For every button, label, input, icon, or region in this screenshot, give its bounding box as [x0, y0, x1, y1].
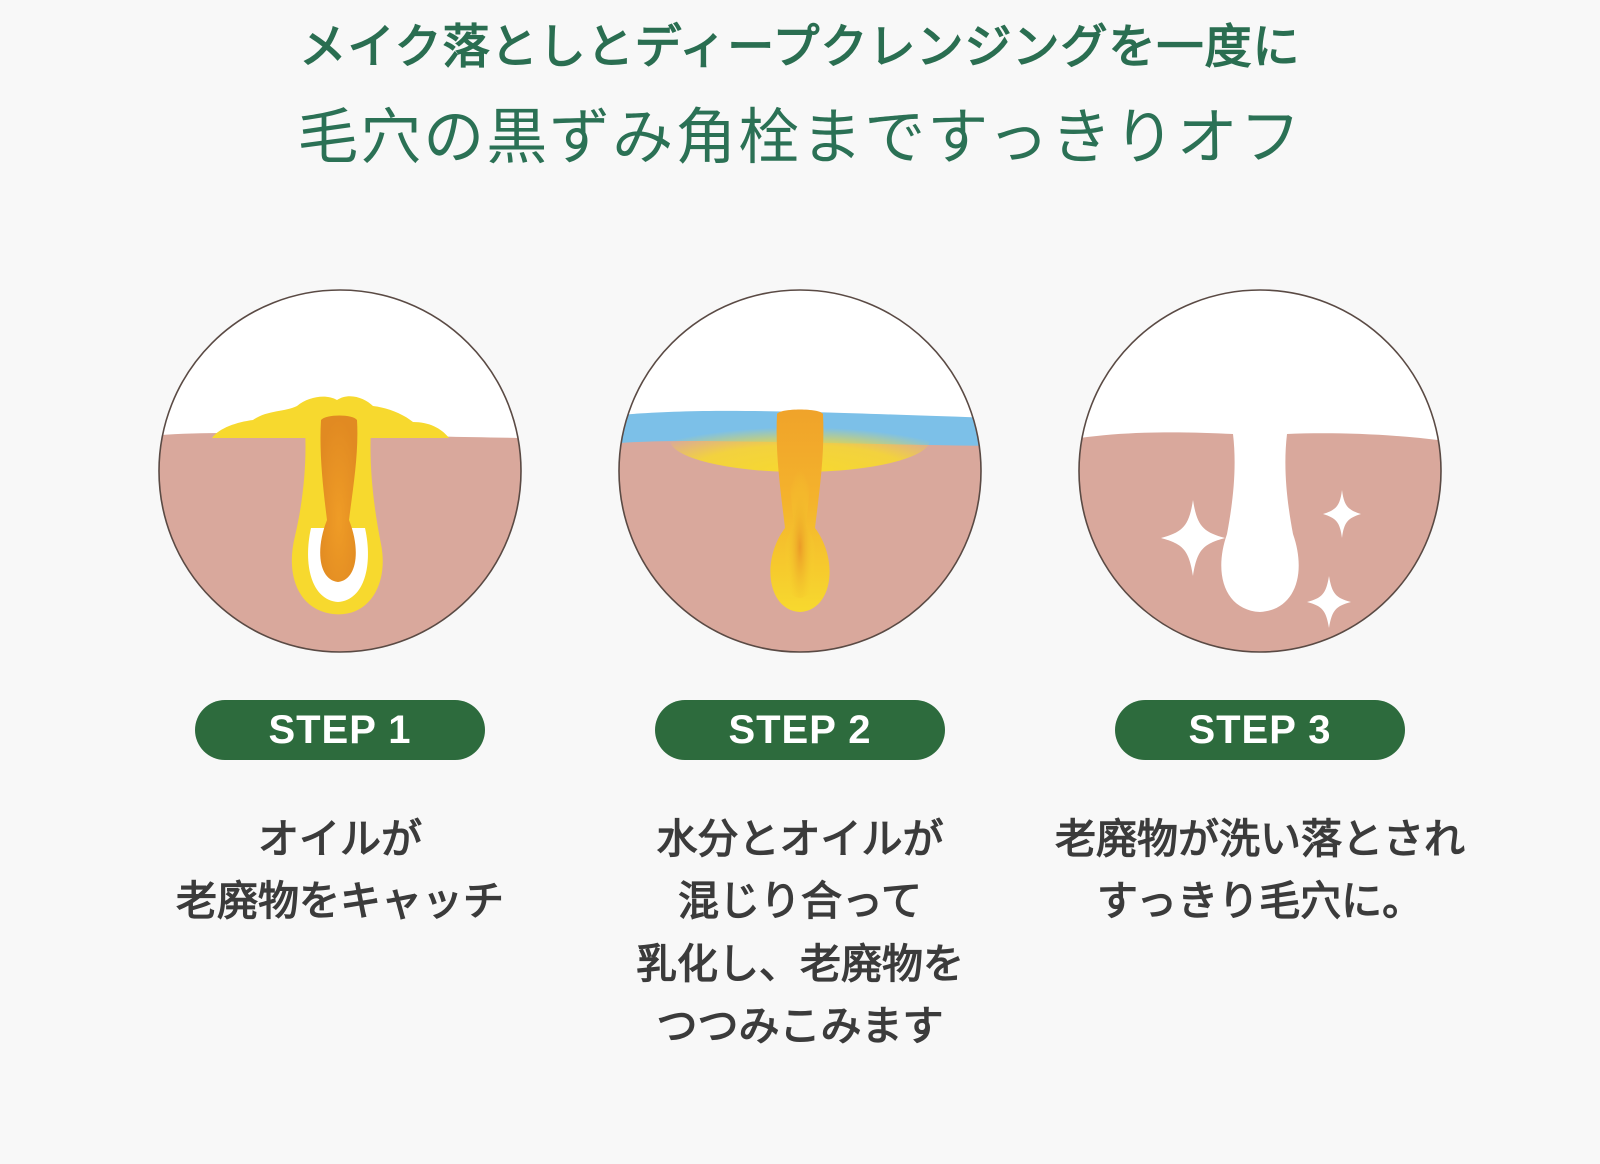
step-caption-1: オイルが 老廃物をキャッチ: [176, 808, 504, 933]
step-badge-3[interactable]: STEP 3: [1115, 700, 1405, 760]
step-badge-2[interactable]: STEP 2: [655, 700, 945, 760]
step-badge-1[interactable]: STEP 1: [195, 700, 485, 760]
step-column-3: STEP 3 老廃物が洗い落とされ すっきり毛穴に。: [1030, 288, 1490, 933]
step-badge-1-label: STEP 1: [268, 710, 411, 750]
step-column-1: STEP 1 オイルが 老廃物をキャッチ: [110, 288, 570, 933]
illustration-step-1-oil-catching: [157, 288, 523, 654]
illustration-step-3-clean-pore: [1077, 288, 1443, 654]
step-caption-2: 水分とオイルが 混じり合って 乳化し、老廃物を つつみこみます: [636, 808, 964, 1057]
page-headline-primary: メイク落としとディープクレンジングを一度に: [0, 18, 1600, 77]
step-badge-2-label: STEP 2: [728, 710, 871, 750]
illustration-step-2-emulsifying: [617, 288, 983, 654]
page-headline-secondary: 毛穴の黒ずみ角栓まですっきりオフ: [0, 99, 1600, 178]
step-badge-3-label: STEP 3: [1188, 710, 1331, 750]
headline-block: メイク落としとディープクレンジングを一度に 毛穴の黒ずみ角栓まですっきりオフ: [0, 0, 1600, 178]
step-column-2: STEP 2 水分とオイルが 混じり合って 乳化し、老廃物を つつみこみます: [570, 288, 1030, 1057]
step-caption-3: 老廃物が洗い落とされ すっきり毛穴に。: [1055, 808, 1465, 933]
steps-row: STEP 1 オイルが 老廃物をキャッチ: [0, 288, 1600, 1057]
